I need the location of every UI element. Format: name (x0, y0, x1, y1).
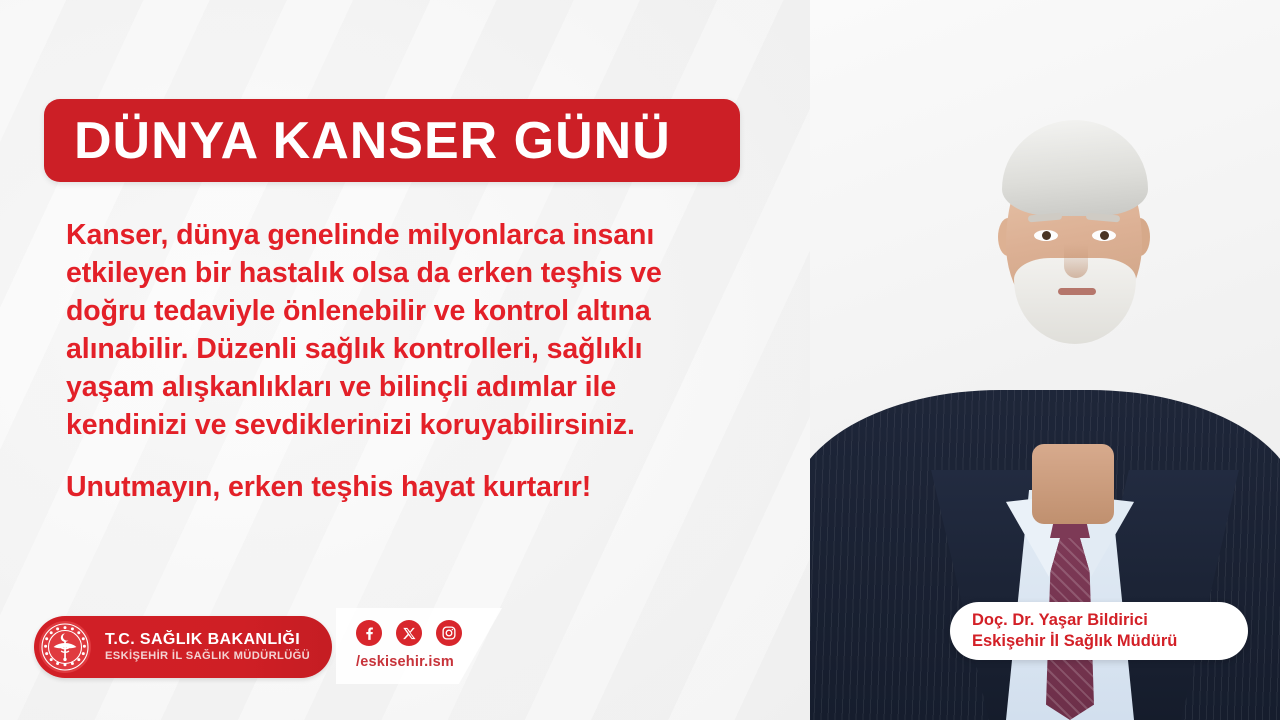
caduceus-emblem-icon (37, 619, 93, 675)
mouth (1058, 288, 1096, 295)
pupil-right (1100, 231, 1109, 240)
body-line: kendinizi ve sevdiklerinizi koruyabilirs… (66, 406, 746, 444)
x-twitter-icon[interactable] (396, 620, 422, 646)
poster-canvas: DÜNYA KANSER GÜNÜ Kanser, dünya genelind… (0, 0, 1280, 720)
title-banner: DÜNYA KANSER GÜNÜ (44, 99, 740, 182)
instagram-icon[interactable] (436, 620, 462, 646)
pupil-left (1042, 231, 1051, 240)
facebook-icon[interactable] (356, 620, 382, 646)
ministry-logo: T.C. SAĞLIK BAKANLIĞI ESKİŞEHİR İL SAĞLI… (34, 616, 332, 678)
body-line: Kanser, dünya genelinde milyonlarca insa… (66, 216, 746, 254)
closing-statement: Unutmayın, erken teşhis hayat kurtarır! (66, 468, 591, 506)
body-line: yaşam alışkanlıkları ve bilinçli adımlar… (66, 368, 746, 406)
person-title: Eskişehir İl Sağlık Müdürü (972, 631, 1248, 652)
name-badge: Doç. Dr. Yaşar Bildirici Eskişehir İl Sa… (950, 602, 1248, 660)
ministry-logo-text: T.C. SAĞLIK BAKANLIĞI ESKİŞEHİR İL SAĞLI… (105, 630, 310, 664)
person-name: Doç. Dr. Yaşar Bildirici (972, 610, 1248, 631)
neck (1032, 444, 1114, 524)
body-line: doğru tedaviyle önlenebilir ve kontrol a… (66, 292, 746, 330)
nose (1064, 244, 1088, 278)
social-handle[interactable]: /eskisehir.ism (356, 654, 454, 670)
body-paragraph: Kanser, dünya genelinde milyonlarca insa… (66, 216, 746, 444)
page-title: DÜNYA KANSER GÜNÜ (74, 115, 671, 167)
body-line: etkileyen bir hastalık olsa da erken teş… (66, 254, 746, 292)
body-line: alınabilir. Düzenli sağlık kontrolleri, … (66, 330, 746, 368)
social-icons (356, 620, 462, 646)
ministry-name: T.C. SAĞLIK BAKANLIĞI (105, 630, 310, 649)
provincial-directorate-name: ESKİŞEHİR İL SAĞLIK MÜDÜRLÜĞÜ (105, 649, 310, 664)
